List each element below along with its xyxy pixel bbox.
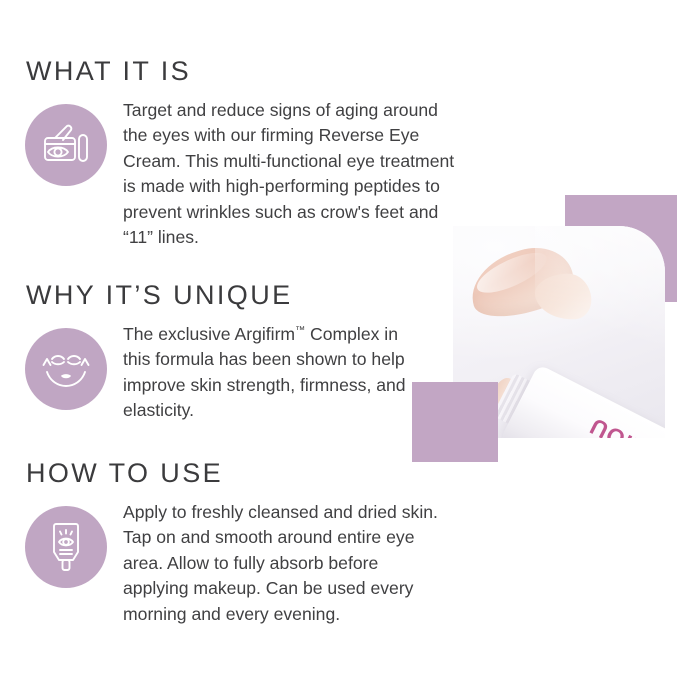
section-text-what-it-is: Target and reduce signs of aging around … <box>107 98 459 251</box>
eye-cream-jar-icon <box>25 104 107 186</box>
section-why-its-unique: WHY IT’S UNIQUE The exclusive Argifirm™ … <box>22 281 462 424</box>
section-what-it-is: WHAT IT IS Target and reduce signs of ag… <box>22 57 462 251</box>
section-body-why-its-unique: The exclusive Argifirm™ Complex in this … <box>22 322 462 424</box>
section-heading-how-to-use: HOW TO USE <box>26 459 462 489</box>
section-body-how-to-use: Apply to freshly cleansed and dried skin… <box>22 500 462 628</box>
section-body-what-it-is: Target and reduce signs of aging around … <box>22 98 462 251</box>
eye-cream-tube-icon <box>25 506 107 588</box>
section-text-lead: The exclusive Argifirm <box>123 324 295 344</box>
accent-square-bottom-left <box>412 382 498 462</box>
section-text-why-its-unique: The exclusive Argifirm™ Complex in this … <box>107 322 423 424</box>
lifted-face-icon <box>25 328 107 410</box>
section-text-how-to-use: Apply to freshly cleansed and dried skin… <box>107 500 443 628</box>
section-heading-what-it-is: WHAT IT IS <box>26 57 462 87</box>
cream-tail <box>534 272 592 321</box>
section-how-to-use: HOW TO USE Apply to freshly <box>22 459 462 627</box>
trademark-symbol: ™ <box>295 325 305 336</box>
product-detail-panel: SERIOU CRÈME POUR LES YEUX WHAT IT IS <box>0 0 679 679</box>
section-heading-why-its-unique: WHY IT’S UNIQUE <box>26 281 462 311</box>
